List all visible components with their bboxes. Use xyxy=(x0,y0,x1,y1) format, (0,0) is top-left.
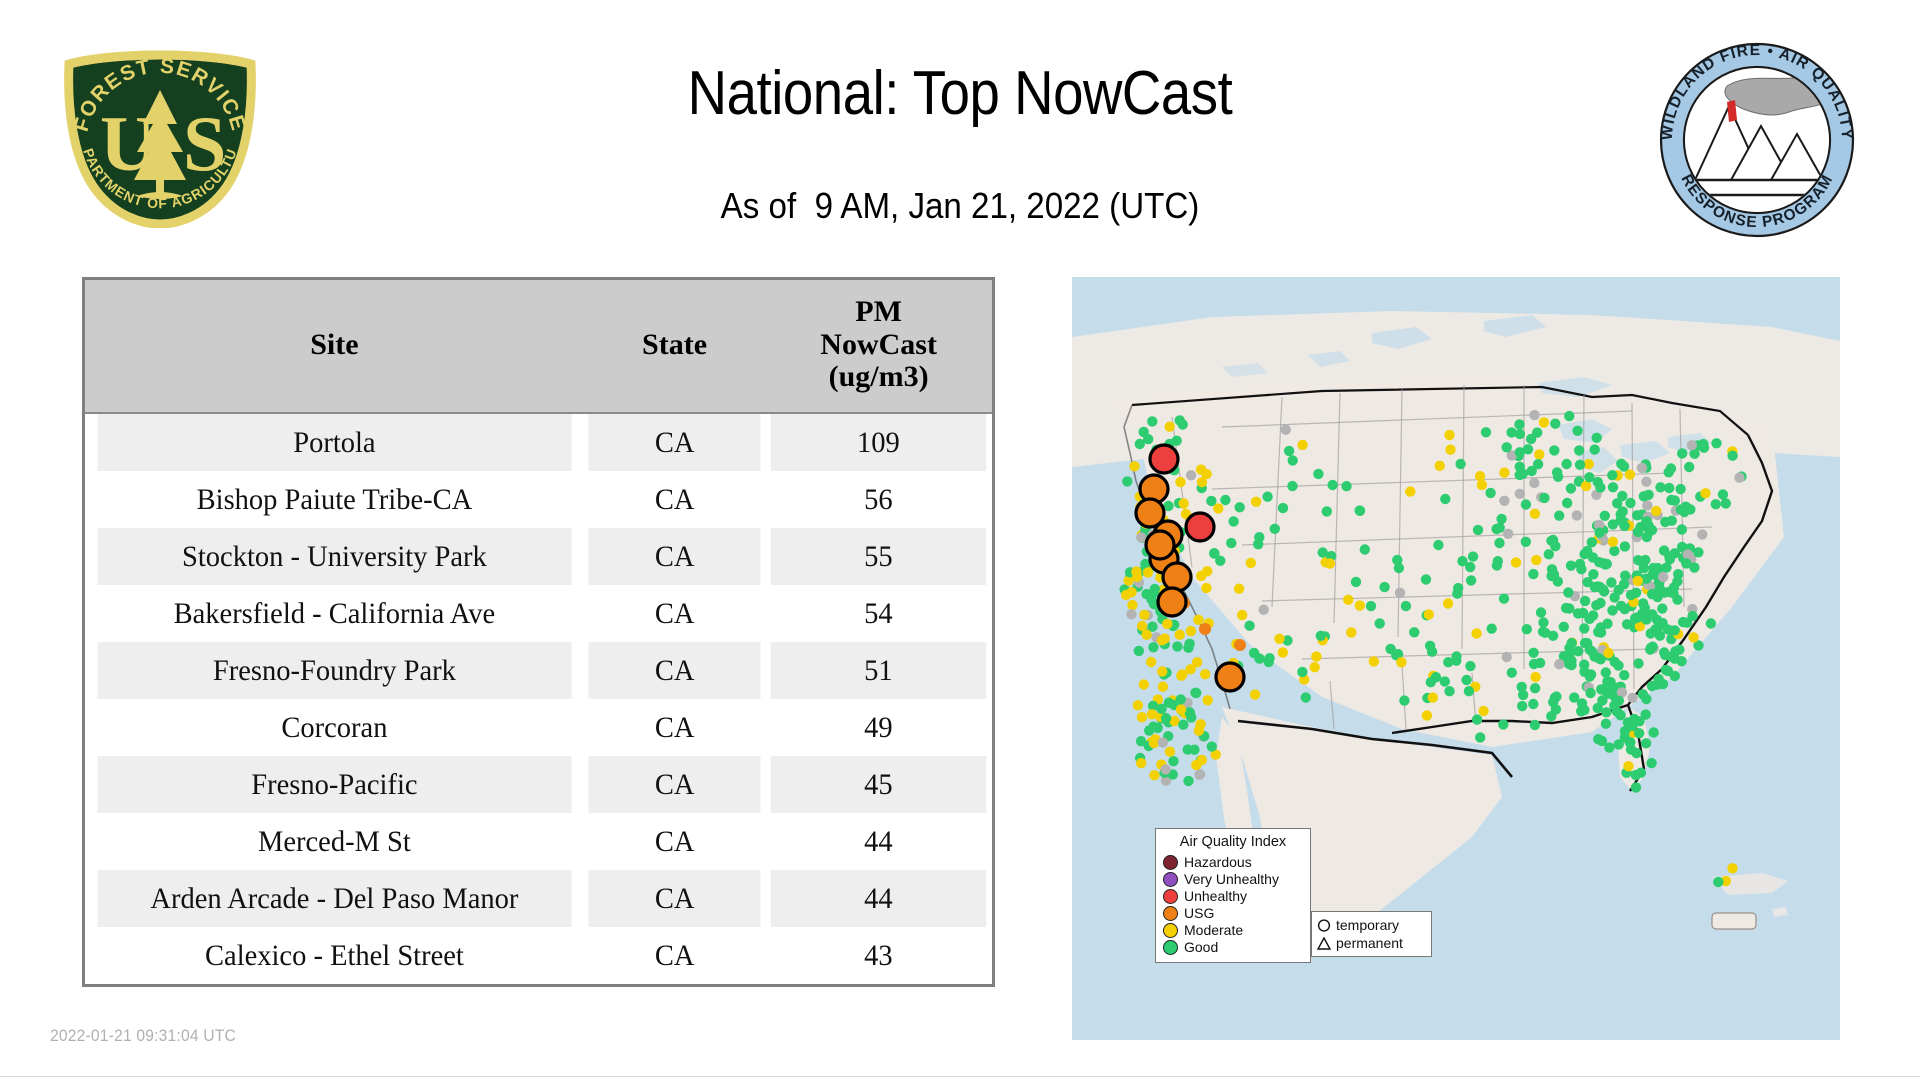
aqi-monitor-dot xyxy=(1718,489,1728,499)
aqi-monitor-dot xyxy=(1592,433,1602,443)
aqi-monitor-dot xyxy=(1133,700,1143,710)
aqi-monitor-dot xyxy=(1623,717,1633,727)
table-row[interactable]: Bishop Paiute Tribe-CACA56 xyxy=(85,471,992,528)
aqi-monitor-dot xyxy=(1550,541,1560,551)
aqi-monitor-dot xyxy=(1194,726,1204,736)
aqi-monitor-dot xyxy=(1554,511,1564,521)
aqi-monitor-dot xyxy=(1200,669,1210,679)
aqi-monitor-dot xyxy=(1530,509,1540,519)
aqi-monitor-dot xyxy=(1575,460,1585,470)
aqi-monitor-dot xyxy=(1160,633,1170,643)
aqi-monitor-dot xyxy=(1595,528,1605,538)
aqi-monitor-dot xyxy=(1601,667,1611,677)
aqi-monitor-dot xyxy=(1184,639,1194,649)
aqi-monitor-dot xyxy=(1126,587,1136,597)
table-row[interactable]: Fresno-PacificCA45 xyxy=(85,756,992,813)
aqi-monitor-dot xyxy=(1642,500,1652,510)
table-row[interactable]: Stockton - University ParkCA55 xyxy=(85,528,992,585)
aqi-monitor-dot xyxy=(1503,529,1513,539)
aqi-monitor-dot xyxy=(1197,477,1207,487)
aqi-monitor-dot xyxy=(1649,727,1659,737)
aqi-monitor-dot xyxy=(1563,587,1573,597)
aqi-monitor-dot xyxy=(1178,419,1188,429)
aqi-monitor-dot xyxy=(1475,732,1485,742)
aqi-monitor-dot xyxy=(1250,689,1260,699)
cell-state: CA xyxy=(588,471,760,528)
aqi-monitor-dot xyxy=(1491,524,1501,534)
aqi-monitor-dot xyxy=(1502,442,1512,452)
marker-legend-permanent: permanent xyxy=(1317,934,1425,952)
aqi-monitor-dot xyxy=(1246,558,1256,568)
aqi-monitor-dot xyxy=(1443,657,1453,667)
aqi-monitor-dot xyxy=(1297,667,1307,677)
aqi-monitor-dot xyxy=(1675,484,1685,494)
aqi-monitor-dot xyxy=(1468,551,1478,561)
aqi-monitor-dot xyxy=(1631,782,1641,792)
aqi-monitor-dot xyxy=(1126,609,1136,619)
aqi-monitor-dot xyxy=(1642,517,1652,527)
marker-legend-permanent-label: permanent xyxy=(1336,935,1403,952)
table-body: PortolaCA109Bishop Paiute Tribe-CACA56St… xyxy=(85,413,992,984)
aqi-monitor-dot xyxy=(1665,554,1675,564)
column-header-state-label: State xyxy=(642,328,707,361)
column-header-pm-nowcast[interactable]: PM NowCast (ug/m3) xyxy=(765,280,992,413)
aqi-monitor-dot xyxy=(1636,768,1646,778)
aqi-monitor-dot xyxy=(1642,532,1652,542)
aqi-monitor-dot xyxy=(1136,736,1146,746)
aqi-monitor-dot xyxy=(1473,525,1483,535)
cell-pm: 44 xyxy=(771,870,986,927)
aqi-legend-item[interactable]: Moderate xyxy=(1163,922,1303,939)
top-site-marker xyxy=(1158,588,1186,616)
aqi-monitor-dot xyxy=(1706,618,1716,628)
aqi-legend-label: Hazardous xyxy=(1184,854,1252,870)
top-site-marker xyxy=(1186,513,1214,541)
aqi-monitor-dot xyxy=(1440,676,1450,686)
aqi-monitor-dot xyxy=(1426,677,1436,687)
aqi-monitor-dot xyxy=(1597,736,1607,746)
aqi-monitor-dot xyxy=(1549,445,1559,455)
aqi-monitor-dot xyxy=(1168,756,1178,766)
aqi-monitor-dot xyxy=(1287,481,1297,491)
aqi-monitor-dot xyxy=(1235,502,1245,512)
aqi-monitor-dot xyxy=(1579,549,1589,559)
aqi-monitor-dot xyxy=(1640,555,1650,565)
cell-state: CA xyxy=(588,756,760,813)
aqi-monitor-dot xyxy=(1579,623,1589,633)
aqi-monitor-dot xyxy=(1534,449,1544,459)
aqi-monitor-dot xyxy=(1608,519,1618,529)
aqi-monitor-dot xyxy=(1192,657,1202,667)
aqi-monitor-dot xyxy=(1550,419,1560,429)
aqi-monitor-dot xyxy=(1670,495,1680,505)
cell-site: Fresno-Pacific xyxy=(97,756,571,813)
aqi-monitor-dot xyxy=(1444,686,1454,696)
aqi-monitor-dot xyxy=(1539,493,1549,503)
aqi-monitor-dot xyxy=(1677,448,1687,458)
aqi-legend-label: Unhealthy xyxy=(1184,888,1247,904)
aqi-monitor-dot xyxy=(1622,619,1632,629)
top-site-marker xyxy=(1146,531,1174,559)
cell-site: Bakersfield - California Ave xyxy=(97,585,571,642)
aqi-monitor-dot xyxy=(1492,560,1502,570)
aqi-monitor-dot xyxy=(1327,480,1337,490)
aqi-monitor-dot xyxy=(1633,658,1643,668)
aqi-monitor-dot xyxy=(1139,610,1149,620)
aqi-monitor-dot xyxy=(1608,537,1618,547)
aqi-monitor-dot xyxy=(1137,712,1147,722)
aqi-monitor-dot xyxy=(1608,482,1618,492)
aqi-monitor-dot xyxy=(1253,539,1263,549)
cell-state: CA xyxy=(588,699,760,756)
aqi-monitor-dot xyxy=(1734,473,1744,483)
aqi-monitor-dot xyxy=(1322,506,1332,516)
table-row[interactable]: Fresno-Foundry ParkCA51 xyxy=(85,642,992,699)
table-row[interactable]: Bakersfield - California AveCA54 xyxy=(85,585,992,642)
aqi-monitor-dot xyxy=(1179,498,1189,508)
aqi-monitor-dot xyxy=(1605,677,1615,687)
aqi-monitor-dot xyxy=(1515,429,1525,439)
aqi-monitor-dot xyxy=(1637,463,1647,473)
aqi-monitor-dot xyxy=(1677,524,1687,534)
aqi-monitor-dot xyxy=(1157,666,1167,676)
aqi-monitor-dot xyxy=(1616,459,1626,469)
cell-pm: 54 xyxy=(771,585,986,642)
cell-state: CA xyxy=(588,927,760,984)
cell-state: CA xyxy=(588,585,760,642)
aqi-monitor-dot xyxy=(1499,468,1509,478)
aqi-monitor-dot xyxy=(1522,624,1532,634)
aqi-monitor-dot xyxy=(1548,631,1558,641)
aqi-monitor-dot xyxy=(1409,627,1419,637)
aqi-monitor-dot xyxy=(1562,498,1572,508)
aqi-monitor-dot xyxy=(1620,541,1630,551)
aqi-monitor-dot xyxy=(1640,610,1650,620)
aqi-legend-item[interactable]: Hazardous xyxy=(1163,854,1303,871)
aqi-monitor-dot xyxy=(1566,561,1576,571)
aqi-monitor-dot xyxy=(1641,477,1651,487)
aqi-monitor-dot xyxy=(1693,547,1703,557)
aqi-monitor-dot xyxy=(1195,769,1205,779)
aqi-monitor-dot xyxy=(1633,527,1643,537)
aqi-monitor-dot xyxy=(1641,709,1651,719)
aqi-monitor-dot xyxy=(1515,489,1525,499)
aqi-monitor-dot xyxy=(1445,445,1455,455)
aqi-monitor-dot xyxy=(1485,488,1495,498)
aqi-monitor-dot xyxy=(1657,603,1667,613)
aqi-monitor-dot xyxy=(1379,582,1389,592)
aqi-monitor-dot xyxy=(1517,682,1527,692)
aqi-swatch-icon xyxy=(1163,923,1178,938)
aqi-monitor-dot xyxy=(1183,776,1193,786)
aqi-monitor-dot xyxy=(1129,461,1139,471)
cell-site: Bishop Paiute Tribe-CA xyxy=(97,471,571,528)
aqi-monitor-dot xyxy=(1207,741,1217,751)
cell-pm: 45 xyxy=(771,756,986,813)
aqi-monitor-dot xyxy=(1301,692,1311,702)
aqi-monitor-dot xyxy=(1461,675,1471,685)
aqi-monitor-dot xyxy=(1158,737,1168,747)
table-header-row: Site State PM NowCast (ug/m3) xyxy=(85,280,992,413)
aqi-monitor-dot xyxy=(1643,490,1653,500)
aqi-monitor-dot xyxy=(1698,439,1708,449)
aqi-monitor-dot xyxy=(1425,641,1435,651)
aqi-monitor-dot xyxy=(1254,653,1264,663)
aqi-monitor-dot xyxy=(1677,505,1687,515)
aqi-monitor-dot xyxy=(1228,516,1238,526)
aqi-monitor-dot xyxy=(1600,511,1610,521)
aqi-monitor-dot xyxy=(1610,657,1620,667)
aqi-monitor-dot xyxy=(1551,691,1561,701)
aqi-legend-item[interactable]: USG xyxy=(1163,905,1303,922)
aqi-monitor-dot xyxy=(1607,470,1617,480)
aqi-monitor-dot xyxy=(1647,589,1657,599)
wfaqrp-logo: WILDLAND FIRE • AIR QUALITY RESPONSE PRO… xyxy=(1655,40,1860,240)
aqi-monitor-dot xyxy=(1539,417,1549,427)
aqi-monitor-dot xyxy=(1666,463,1676,473)
aqi-monitor-dot xyxy=(1444,430,1454,440)
aqi-monitor-dot xyxy=(1264,653,1274,663)
aqi-monitor-dot xyxy=(1531,555,1541,565)
table-row[interactable]: Merced-M StCA44 xyxy=(85,813,992,870)
aqi-monitor-dot xyxy=(1399,695,1409,705)
aqi-monitor-dot xyxy=(1190,688,1200,698)
aqi-monitor-dot xyxy=(1590,444,1600,454)
aqi-monitor-dot xyxy=(1395,588,1405,598)
aqi-monitor-dot xyxy=(1472,714,1482,724)
aqi-monitor-dot xyxy=(1521,537,1531,547)
aqi-monitor-dot xyxy=(1213,503,1223,513)
aqi-monitor-dot xyxy=(1619,670,1629,680)
aqi-monitor-dot xyxy=(1631,588,1641,598)
aqi-monitor-dot xyxy=(1220,495,1230,505)
aqi-monitor-dot xyxy=(1136,758,1146,768)
aqi-monitor-dot xyxy=(1422,710,1432,720)
aqi-monitor-dot xyxy=(1455,459,1465,469)
aqi-monitor-dot xyxy=(1355,600,1365,610)
table-row[interactable]: PortolaCA109 xyxy=(85,413,992,471)
aqi-monitor-dot xyxy=(1237,610,1247,620)
aqi-monitor-dot xyxy=(1316,631,1326,641)
aqi-monitor-dot xyxy=(1440,494,1450,504)
aqi-monitor-dot xyxy=(1681,558,1691,568)
aqi-monitor-dot xyxy=(1185,708,1195,718)
aqi-monitor-dot xyxy=(1658,572,1668,582)
aqi-monitor-dot xyxy=(1517,701,1527,711)
aqi-monitor-dot xyxy=(1606,577,1616,587)
aqi-monitor-dot xyxy=(1127,600,1137,610)
aqi-monitor-dot xyxy=(1651,506,1661,516)
aqi-monitor-dot xyxy=(1721,498,1731,508)
aqi-monitor-dot xyxy=(1355,506,1365,516)
aqi-monitor-dot xyxy=(1579,705,1589,715)
aqi-swatch-icon xyxy=(1163,906,1178,921)
aqi-monitor-dot xyxy=(1511,557,1521,567)
aqi-monitor-dot xyxy=(1143,567,1153,577)
aqi-monitor-dot xyxy=(1625,737,1635,747)
report-page: FOREST SERVICE U S DEPARTMENT OF AGRICUL… xyxy=(0,0,1920,1080)
aqi-monitor-dot xyxy=(1612,706,1622,716)
aqi-monitor-dot xyxy=(1584,614,1594,624)
aqi-swatch-icon xyxy=(1163,889,1178,904)
aqi-monitor-dot xyxy=(1533,459,1543,469)
aqi-monitor-dot xyxy=(1526,434,1536,444)
aqi-monitor-dot xyxy=(1544,549,1554,559)
aqi-monitor-dot xyxy=(1186,626,1196,636)
aqi-monitor-dot xyxy=(1594,557,1604,567)
aqi-monitor-dot xyxy=(1688,632,1698,642)
aqi-monitor-dot xyxy=(1614,585,1624,595)
aqi-legend-item[interactable]: Good xyxy=(1163,939,1303,956)
aqi-monitor-dot xyxy=(1297,440,1307,450)
aqi-monitor-dot xyxy=(1281,425,1291,435)
aqi-monitor-dot xyxy=(1567,638,1577,648)
aqi-monitor-dot xyxy=(1564,659,1574,669)
aqi-monitor-dot xyxy=(1175,630,1185,640)
table-row[interactable]: Arden Arcade - Del Paso ManorCA44 xyxy=(85,870,992,927)
aqi-monitor-dot xyxy=(1659,545,1669,555)
aqi-monitor-dot xyxy=(1226,538,1236,548)
aqi-monitor-dot xyxy=(1351,577,1361,587)
aqi-monitor-dot xyxy=(1341,481,1351,491)
aqi-monitor-dot xyxy=(1172,641,1182,651)
cell-pm: 55 xyxy=(771,528,986,585)
aqi-legend-title: Air Quality Index xyxy=(1163,834,1303,851)
cell-pm: 49 xyxy=(771,699,986,756)
cell-site: Stockton - University Park xyxy=(97,528,571,585)
aqi-monitor-dot xyxy=(1672,595,1682,605)
aqi-monitor-dot xyxy=(1464,686,1474,696)
page-title: National: Top NowCast xyxy=(115,58,1805,129)
aqi-monitor-dot xyxy=(1186,470,1196,480)
aqi-monitor-dot xyxy=(1641,738,1651,748)
aqi-monitor-dot xyxy=(1713,877,1723,887)
aqi-monitor-dot xyxy=(1529,478,1539,488)
aqi-monitor-dot xyxy=(1122,476,1132,486)
aqi-legend-label: Moderate xyxy=(1184,922,1243,938)
aqi-monitor-dot xyxy=(1580,596,1590,606)
aqi-monitor-dot xyxy=(1623,761,1633,771)
aqi-monitor-dot xyxy=(1234,584,1244,594)
aqi-monitor-dot xyxy=(1499,594,1509,604)
aqi-monitor-dot xyxy=(1538,617,1548,627)
aqi-monitor-dot xyxy=(1466,575,1476,585)
column-header-state[interactable]: State xyxy=(584,280,765,413)
aqi-legend-item[interactable]: Very Unhealthy xyxy=(1163,871,1303,888)
cell-site: Portola xyxy=(97,413,571,471)
table-row[interactable]: CorcoranCA49 xyxy=(85,699,992,756)
aqi-monitor-dot xyxy=(1375,618,1385,628)
aqi-monitor-dot xyxy=(1595,482,1605,492)
aqi-monitor-dot xyxy=(1172,436,1182,446)
aqi-monitor-dot xyxy=(1601,719,1611,729)
cell-pm: 56 xyxy=(771,471,986,528)
aqi-monitor-dot xyxy=(1572,426,1582,436)
aqi-monitor-dot xyxy=(1424,609,1434,619)
aqi-monitor-dot xyxy=(1603,689,1613,699)
aqi-monitor-dot xyxy=(1564,650,1574,660)
cell-pm: 51 xyxy=(771,642,986,699)
aqi-monitor-dot xyxy=(1421,574,1431,584)
aqi-monitor-dot xyxy=(1602,619,1612,629)
aqi-monitor-dot xyxy=(1209,548,1219,558)
aqi-monitor-dot xyxy=(1603,648,1613,658)
aqi-monitor-dot xyxy=(1727,863,1737,873)
aqi-monitor-dot xyxy=(1496,514,1506,524)
aqi-monitor-dot xyxy=(1616,509,1626,519)
aqi-monitor-dot xyxy=(1465,562,1475,572)
aqi-monitor-dot xyxy=(1528,648,1538,658)
aqi-monitor-dot xyxy=(1153,723,1163,733)
aqi-monitor-dot xyxy=(1325,558,1335,568)
aqi-monitor-dot xyxy=(1193,615,1203,625)
aqi-monitor-dot xyxy=(1288,455,1298,465)
aqi-monitor-dot xyxy=(1148,642,1158,652)
top-site-marker xyxy=(1163,563,1191,591)
aqi-monitor-dot xyxy=(1178,720,1188,730)
cell-site: Arden Arcade - Del Paso Manor xyxy=(97,870,571,927)
aqi-monitor-dot xyxy=(1394,563,1404,573)
aqi-monitor-dot xyxy=(1648,642,1658,652)
aqi-monitor-dot xyxy=(1465,661,1475,671)
aqi-monitor-dot xyxy=(1593,653,1603,663)
aqi-monitor-dot xyxy=(1487,624,1497,634)
aqi-monitor-dot xyxy=(1625,498,1635,508)
aqi-monitor-dot xyxy=(1559,622,1569,632)
aqi-monitor-dot xyxy=(1546,571,1556,581)
column-header-site[interactable]: Site xyxy=(85,280,584,413)
aqi-monitor-dot xyxy=(1700,488,1710,498)
aqi-monitor-dot xyxy=(1132,572,1142,582)
aqi-monitor-dot xyxy=(1244,621,1254,631)
aqi-monitor-dot xyxy=(1514,419,1524,429)
top-site-marker xyxy=(1150,445,1178,473)
aqi-monitor-dot xyxy=(1146,657,1156,667)
aqi-monitor-dot xyxy=(1523,444,1533,454)
cell-state: CA xyxy=(588,528,760,585)
table-row[interactable]: Calexico - Ethel StreetCA43 xyxy=(85,927,992,984)
aqi-monitor-dot xyxy=(1141,589,1151,599)
cell-pm: 43 xyxy=(771,927,986,984)
aqi-monitor-dot xyxy=(1646,758,1656,768)
column-header-pm-line1: PM xyxy=(855,295,902,328)
aqi-legend-item[interactable]: Unhealthy xyxy=(1163,888,1303,905)
aqi-monitor-dot xyxy=(1502,652,1512,662)
aqi-monitor-dot xyxy=(1310,662,1320,672)
aqi-swatch-icon xyxy=(1163,855,1178,870)
aqi-monitor-dot xyxy=(1175,477,1185,487)
aqi-monitor-dot xyxy=(1405,486,1415,496)
aqi-monitor-dot xyxy=(1521,499,1531,509)
aqi-monitor-dot xyxy=(1670,671,1680,681)
aqi-monitor-dot xyxy=(1579,667,1589,677)
aqi-monitor-dot xyxy=(1528,569,1538,579)
aqi-monitor-dot xyxy=(1607,605,1617,615)
column-header-pm-line2: NowCast xyxy=(820,328,937,361)
aqi-legend-label: Good xyxy=(1184,939,1218,955)
aqi-monitor-dot xyxy=(1278,503,1288,513)
aqi-monitor-dot xyxy=(1652,680,1662,690)
aqi-monitor-dot xyxy=(1631,748,1641,758)
aqi-monitor-dot xyxy=(1137,621,1147,631)
aqi-monitor-dot xyxy=(1573,608,1583,618)
cell-site: Corcoran xyxy=(97,699,571,756)
aqi-monitor-dot xyxy=(1620,571,1630,581)
aqi-monitor-dot xyxy=(1199,623,1211,635)
aqi-monitor-dot xyxy=(1684,462,1694,472)
aqi-monitor-dot xyxy=(1134,646,1144,656)
aqi-monitor-dot xyxy=(1529,410,1539,420)
